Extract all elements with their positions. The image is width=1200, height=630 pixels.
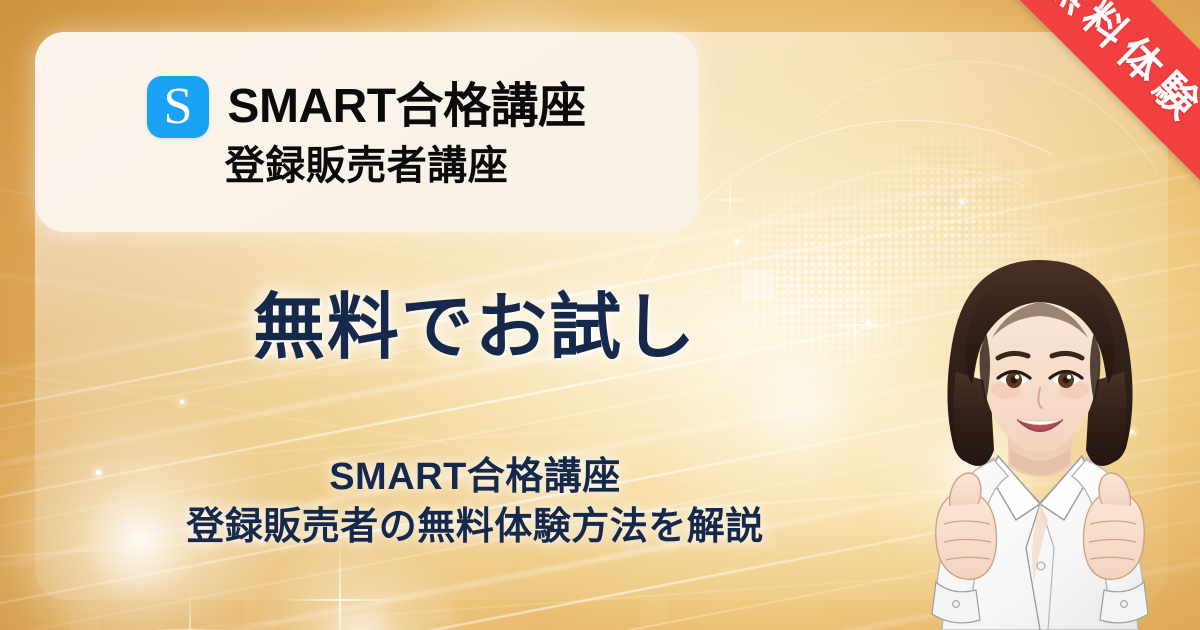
subtitle-block: SMART合格講座 登録販売者の無料体験方法を解説 [35, 452, 915, 552]
brand-header-panel: S SMART合格講座 登録販売者講座 [35, 32, 698, 232]
smiling-woman-thumbs-up-illustration [890, 252, 1190, 630]
promo-banner: S SMART合格講座 登録販売者講座 無料でお試し SMART合格講座 登録販… [0, 0, 1200, 630]
subtitle-line-1: SMART合格講座 [35, 452, 915, 502]
brand-row: S SMART合格講座 [147, 76, 585, 138]
smart-s-logo-icon: S [147, 76, 209, 138]
subtitle-line-2: 登録販売者の無料体験方法を解説 [35, 502, 915, 552]
brand-subtitle: 登録販売者講座 [225, 144, 509, 188]
svg-text:S: S [164, 78, 193, 135]
brand-title: SMART合格講座 [227, 83, 585, 131]
headline-text: 無料でお試し [35, 292, 915, 364]
